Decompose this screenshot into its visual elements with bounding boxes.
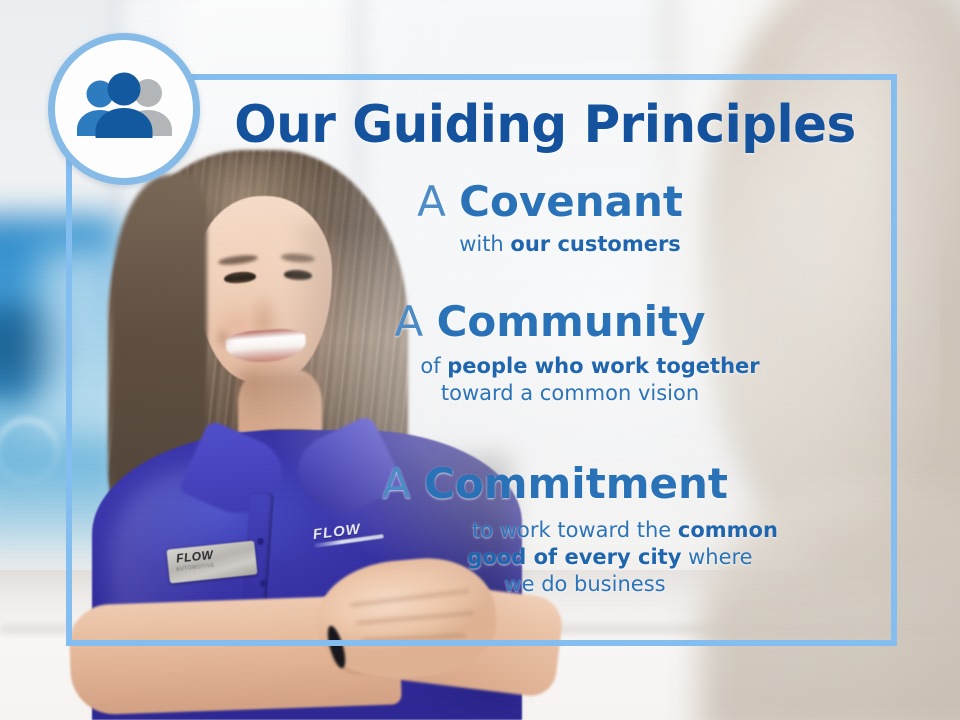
principle-2-line-2: toward a common vision <box>270 380 870 407</box>
principle-3-line-1-plain: to work toward the <box>472 518 678 542</box>
principle-1-line-1-bold: our customers <box>510 232 680 256</box>
principle-3-line-3: we do business <box>280 571 890 598</box>
principle-3-subtext: to work toward the common good of every … <box>250 517 860 599</box>
principle-3-title: A Commitment <box>250 462 860 507</box>
principle-3-line-1: to work toward the common <box>320 517 930 544</box>
principle-1-line-1-plain: with <box>459 232 510 256</box>
principle-3-line-2-plain: where <box>681 545 752 569</box>
principle-3-line-2-bold: good of every city <box>467 545 681 569</box>
principle-3-line-2: good of every city where <box>305 544 915 571</box>
principle-2-title: A Community <box>250 300 850 345</box>
principle-3-line-1-bold: common <box>678 518 778 542</box>
guiding-principles-poster: FLOW FLOW AUTOMOTIVE <box>0 0 960 720</box>
principle-2-article: A <box>395 297 424 346</box>
principle-2-line-1: of people who work together <box>290 353 890 380</box>
principle-1-subtext: with our customers <box>250 231 850 258</box>
people-group-icon <box>72 72 176 146</box>
principle-1-line-1: with our customers <box>270 231 870 258</box>
principle-3-article: A <box>382 459 411 508</box>
principle-2-word: Community <box>437 297 706 346</box>
principle-1-title: A Covenant <box>250 180 850 225</box>
principle-2-line-1-bold: people who work together <box>447 354 759 378</box>
principle-covenant: A Covenant with our customers <box>250 180 850 258</box>
principle-1-word: Covenant <box>459 177 683 226</box>
principle-2-subtext: of people who work together toward a com… <box>250 353 850 408</box>
people-badge-circle <box>48 33 200 185</box>
principle-community: A Community of people who work together … <box>250 300 850 407</box>
principle-commitment: A Commitment to work toward the common g… <box>250 462 860 598</box>
smile-corner <box>214 326 232 350</box>
page-title: Our Guiding Principles <box>228 95 862 155</box>
principle-1-article: A <box>417 177 446 226</box>
principle-3-word: Commitment <box>424 459 728 508</box>
principle-2-line-1-plain: of <box>420 354 447 378</box>
